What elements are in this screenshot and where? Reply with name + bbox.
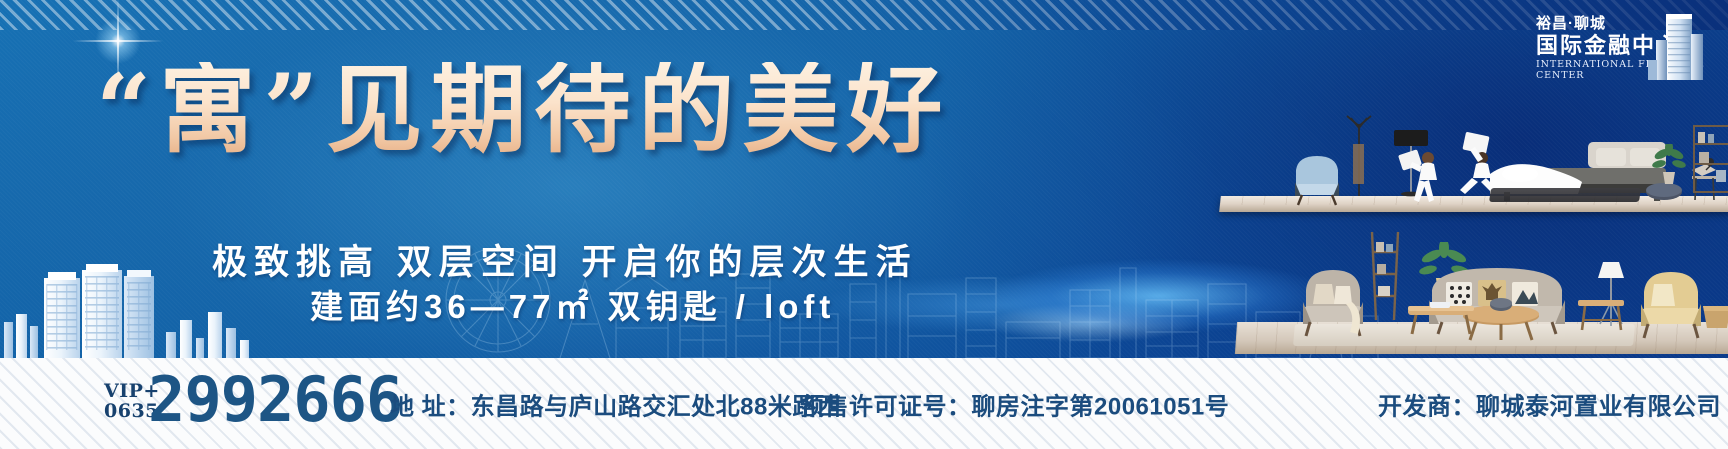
real-estate-banner: “寓”见期待的美好 极致挑高 双层空间 开启你的层次生活 建面约36—77㎡ 双… — [0, 0, 1728, 449]
coat-rack — [1344, 114, 1374, 198]
footer-license: 预售许可证号：聊房注字第20061051号 — [800, 386, 1229, 421]
side-coffee-table — [1404, 302, 1478, 336]
footer-developer: 开发商：聊城泰河置业有限公司 — [1378, 386, 1721, 421]
bedroom-loft-scene — [1192, 88, 1728, 238]
living-room-scene — [1236, 222, 1728, 358]
footer-address: 地 址：东昌路与庐山路交汇处北88米路西 — [390, 386, 841, 421]
person-pillow-fight-left — [1398, 146, 1454, 204]
dark-area-rug — [1489, 188, 1641, 202]
potted-plant-upper — [1652, 144, 1686, 186]
page-title: “寓”见期待的美好 — [96, 62, 950, 158]
brand-logo[interactable]: 裕昌·聊城 国际金融中心 INTERNATIONAL FINANCIAL CEN… — [1534, 16, 1714, 81]
phone-number[interactable]: 2992666 — [148, 369, 402, 431]
banner-artwork-background: “寓”见期待的美好 极致挑高 双层空间 开启你的层次生活 建面约36—77㎡ 双… — [0, 0, 1728, 358]
hero-subtitle-secondary: 建面约36—77㎡ 双钥匙 / loft — [310, 280, 835, 328]
grey-armchair-left — [1294, 266, 1372, 338]
woven-basket — [1698, 298, 1728, 332]
footer-info-bar: VIP+ 0635 2992666 地 址：东昌路与庐山路交汇处北88米路西 预… — [0, 358, 1728, 449]
skyscraper-icon — [1646, 10, 1708, 82]
table-decor-bowl — [1488, 296, 1514, 312]
shelf-unit-upper — [1690, 124, 1728, 198]
side-table-right — [1574, 294, 1628, 334]
top-hatch-fade-overlay — [0, 0, 1728, 30]
hero-subtitle-primary: 极致挑高 双层空间 开启你的层次生活 — [212, 234, 917, 285]
blue-armchair — [1288, 154, 1346, 206]
